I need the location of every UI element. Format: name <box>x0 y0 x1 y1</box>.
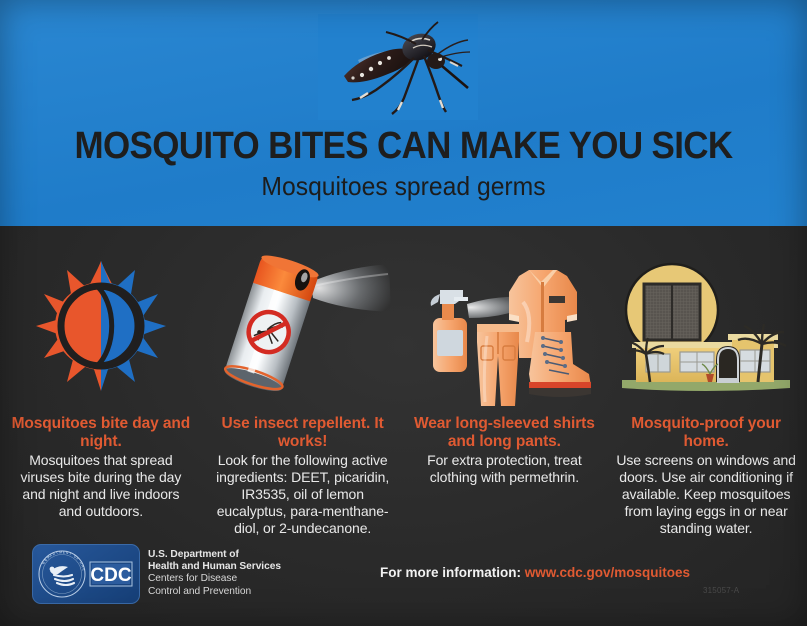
insect-repellent-spray-can-icon <box>213 252 393 402</box>
column-artwork <box>208 240 398 415</box>
cdc-mosquito-poster: MOSQUITO BITES CAN MAKE YOU SICK Mosquit… <box>0 0 807 626</box>
cdc-hhs-logo[interactable]: D E P A R T M E N T O F H H S <box>32 544 140 604</box>
page-title: MOSQUITO BITES CAN MAKE YOU SICK <box>32 126 774 166</box>
cdc-logo-graphic: D E P A R T M E N T O F H H S <box>36 548 136 600</box>
column-body: Look for the following active ingredient… <box>212 452 394 537</box>
column-heading: Use insect repellent. It works! <box>212 415 394 450</box>
column-body: Use screens on windows and doors. Use ai… <box>615 452 797 537</box>
aedes-mosquito-photo <box>318 14 478 120</box>
column-heading: Mosquitoes bite day and night. <box>10 415 192 450</box>
column-artwork <box>410 240 600 415</box>
sun-moon-icon <box>35 260 167 392</box>
column-heading: Mosquito-proof your home. <box>615 415 797 450</box>
publication-number: 315057-A <box>703 586 739 595</box>
column-artwork <box>611 240 801 415</box>
more-information-label: For more information: <box>380 565 521 580</box>
department-line-3: Centers for Disease <box>148 573 281 585</box>
column-artwork <box>6 240 196 415</box>
header-banner: MOSQUITO BITES CAN MAKE YOU SICK Mosquit… <box>0 0 807 226</box>
column-heading: Wear long-sleeved shirts and long pants. <box>414 415 596 450</box>
cdc-mosquitoes-url[interactable]: www.cdc.gov/mosquitoes <box>525 565 690 580</box>
department-line-1: U.S. Department of <box>148 549 281 561</box>
column-text: Mosquitoes bite day and night. Mosquitoe… <box>6 415 196 520</box>
screened-house-icon <box>614 262 798 404</box>
column-body: For extra protection, treat clothing wit… <box>414 452 596 486</box>
department-line-4: Control and Prevention <box>148 586 281 598</box>
column-mosquito-proof-home: Mosquito-proof your home. Use screens on… <box>605 240 807 540</box>
long-sleeved-clothing-icon <box>411 256 597 408</box>
cdc-wordmark: CDC <box>90 565 131 586</box>
column-use-insect-repellent: Use insect repellent. It works! Look for… <box>202 240 404 540</box>
department-text: U.S. Department of Health and Human Serv… <box>148 549 281 598</box>
svg-text:T: T <box>69 552 72 556</box>
footer: D E P A R T M E N T O F H H S <box>0 540 807 626</box>
department-line-2: Health and Human Services <box>148 561 281 573</box>
advice-columns: Mosquitoes bite day and night. Mosquitoe… <box>0 240 807 540</box>
column-bite-day-and-night: Mosquitoes bite day and night. Mosquitoe… <box>0 240 202 540</box>
svg-text:E: E <box>63 550 65 554</box>
column-text: Mosquito-proof your home. Use screens on… <box>611 415 801 537</box>
column-text: Use insect repellent. It works! Look for… <box>208 415 398 537</box>
more-information: For more information: www.cdc.gov/mosqui… <box>380 565 690 580</box>
header-title-group: MOSQUITO BITES CAN MAKE YOU SICK Mosquit… <box>0 126 807 200</box>
page-subtitle: Mosquitoes spread germs <box>20 172 787 200</box>
column-text: Wear long-sleeved shirts and long pants.… <box>410 415 600 486</box>
column-wear-long-sleeves: Wear long-sleeved shirts and long pants.… <box>404 240 606 540</box>
column-body: Mosquitoes that spread viruses bite duri… <box>10 452 192 520</box>
